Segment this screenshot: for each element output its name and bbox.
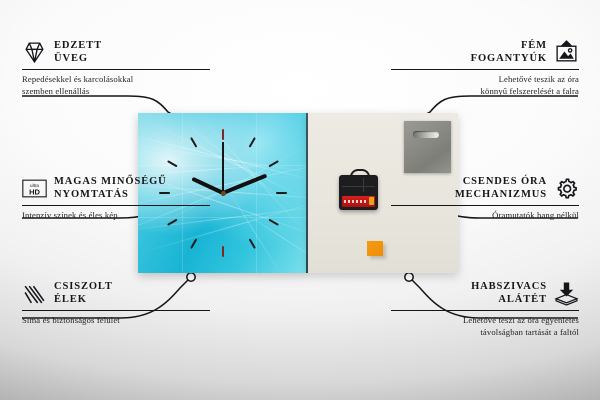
foam-spacer-pad	[367, 241, 383, 256]
callout-rule	[391, 205, 579, 207]
callout-title-line1: FÉM	[471, 40, 547, 53]
foam-pad-icon	[554, 281, 579, 306]
metal-hanger-plate	[404, 121, 451, 173]
callout-desc-line1: Sima és biztonságos felület	[22, 315, 210, 326]
callout-rule	[22, 205, 210, 207]
polished-edges-icon	[22, 281, 47, 306]
callout-title-line1: CSENDES ÓRA	[455, 176, 547, 189]
callout-title-line1: EDZETT	[54, 40, 102, 53]
callout-title-line2: ÜVEG	[54, 53, 102, 66]
mechanism-seam	[342, 186, 375, 187]
callout-rule	[22, 310, 210, 312]
second-hand	[222, 142, 224, 196]
battery-label	[344, 200, 366, 203]
callout-foam-pad: HABSZIVACS ALÁTÉT Lehetővé teszi az óra …	[391, 281, 579, 338]
gear-icon	[554, 176, 579, 201]
callout-title-line2: FOGANTYÚK	[471, 53, 547, 66]
picture-hanging-icon	[554, 40, 579, 65]
callout-title-line2: ALÁTÉT	[471, 294, 547, 307]
callout-tempered-glass: EDZETT ÜVEG Repedésekkel és karcolásokka…	[22, 40, 210, 97]
mechanism-loop	[350, 169, 370, 180]
callout-desc-line2: távolságban tartását a faltól	[391, 327, 579, 338]
infographic-canvas: EDZETT ÜVEG Repedésekkel és karcolásokka…	[0, 0, 600, 400]
ultra-hd-icon: ultra HD	[22, 176, 47, 201]
connector-dot	[405, 273, 413, 281]
callout-silent-mechanism: CSENDES ÓRA MECHANIZMUS Óramutatók hang …	[391, 176, 579, 222]
callout-title-line2: MECHANIZMUS	[455, 189, 547, 202]
callout-title-line1: CSISZOLT	[54, 281, 113, 294]
callout-rule	[22, 69, 210, 71]
callout-metal-handles: FÉM FOGANTYÚK Lehetővé teszik az óra kön…	[391, 40, 579, 97]
mechanism-seam-vertical	[363, 178, 364, 192]
callout-title-line2: NYOMTATÁS	[54, 189, 167, 202]
callout-title-line1: HABSZIVACS	[471, 281, 547, 294]
battery	[342, 196, 375, 207]
battery-terminal	[369, 197, 374, 205]
connector-dot	[187, 273, 195, 281]
callout-polished-edges: CSISZOLT ÉLEK Sima és biztonságos felüle…	[22, 281, 210, 327]
callout-desc-line1: Lehetővé teszi az óra egyenletes	[391, 315, 579, 326]
callout-desc-line1: Lehetővé teszik az óra	[391, 74, 579, 85]
callout-rule	[391, 69, 579, 71]
callout-high-quality-print: ultra HD MAGAS MINŐSÉGŰ NYOMTATÁS Intenz…	[22, 176, 210, 222]
callout-desc-line2: szemben ellenállás	[22, 86, 210, 97]
callout-title-line2: ÉLEK	[54, 294, 113, 307]
hanger-slot	[413, 131, 439, 138]
svg-text:HD: HD	[29, 188, 40, 197]
callout-desc-line1: Intenzív színek és éles kép	[22, 210, 210, 221]
callout-desc-line1: Óramutatók hang nélkül	[391, 210, 579, 221]
quartz-clock-mechanism	[339, 175, 378, 210]
callout-title-line1: MAGAS MINŐSÉGŰ	[54, 176, 167, 189]
diamond-icon	[22, 40, 47, 65]
callout-desc-line2: könnyű felszerelését a falra	[391, 86, 579, 97]
callout-desc-line1: Repedésekkel és karcolásokkal	[22, 74, 210, 85]
minute-hand	[220, 174, 267, 196]
hand-cap	[221, 191, 226, 196]
callout-rule	[391, 310, 579, 312]
